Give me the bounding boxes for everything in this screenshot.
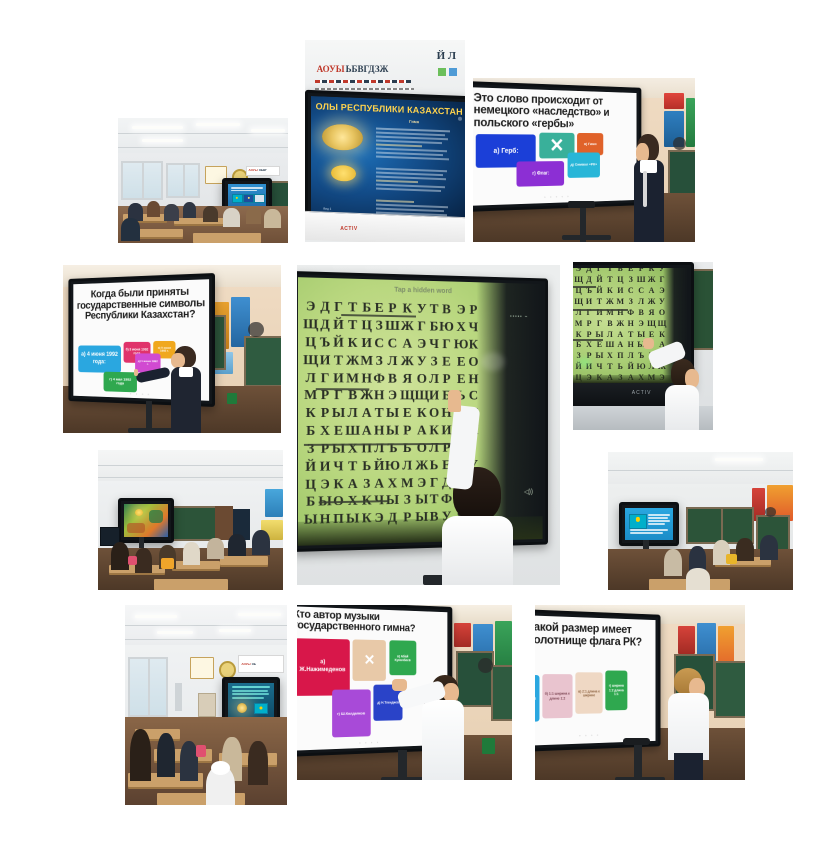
word-search-cell[interactable]: Ь — [429, 458, 439, 475]
quiz-answer-a[interactable]: а) 1:2 — [535, 675, 540, 722]
quiz-question: Когда были приняты государственные симво… — [76, 287, 206, 323]
pupil-pointing — [161, 346, 205, 433]
word-search-cell[interactable]: Ж — [605, 296, 615, 307]
word-search-cell[interactable]: Л — [400, 458, 415, 476]
panel-brand-label: ACTIV — [340, 226, 358, 232]
interactive-panel — [619, 502, 679, 547]
word-search-cell[interactable]: Е — [400, 406, 415, 423]
word-search-cell[interactable]: Р — [584, 318, 594, 329]
word-search-cell[interactable]: Р — [318, 406, 331, 424]
word-search-cell[interactable]: Й — [332, 318, 345, 336]
quiz-slide: Какой размер имеет полотнище флага РК? а… — [535, 615, 656, 745]
cross-icon: ✕ — [364, 653, 375, 667]
word-search-cell[interactable]: Щ — [303, 352, 318, 370]
word-search-cell[interactable]: Т — [605, 274, 615, 285]
word-search-cell[interactable]: Я — [646, 307, 656, 318]
word-search-cell[interactable]: К — [429, 423, 439, 440]
word-search-cell[interactable]: П — [615, 350, 625, 361]
word-search-cell[interactable]: О — [414, 371, 428, 388]
word-search-cell[interactable]: Е — [454, 372, 469, 389]
word-search-cell[interactable]: З — [400, 493, 415, 511]
word-search-cell[interactable]: Э — [318, 476, 331, 494]
panel-glow — [578, 358, 591, 367]
quiz-answer-e[interactable]: д) Символ «РК» — [568, 153, 600, 178]
word-search-cell[interactable]: Э — [414, 475, 428, 493]
photo-quiz-flag-size-boy: Какой размер имеет полотнище флага РК? а… — [535, 605, 745, 780]
word-search-cell[interactable]: Б — [429, 319, 439, 336]
found-word-kazah — [573, 339, 603, 341]
word-search-cell[interactable]: Ю — [439, 320, 454, 338]
word-search-cell[interactable]: Т — [626, 329, 636, 340]
word-search-cell[interactable]: Л — [636, 296, 646, 307]
word-search-cell[interactable]: Э — [303, 299, 318, 317]
word-search-cell[interactable]: У — [414, 354, 428, 371]
word-search-cell[interactable]: Р — [318, 388, 331, 406]
quiz-slide: Это слово происходит от немецкого «насле… — [473, 87, 637, 205]
word-search-cell[interactable]: Й — [594, 274, 604, 285]
found-word-krylatye-koni — [573, 309, 628, 311]
word-search-cell[interactable]: Ж — [414, 458, 428, 475]
word-search-cell[interactable]: Л — [605, 329, 615, 340]
word-search-cell[interactable]: А — [414, 423, 428, 440]
word-search-cell[interactable]: Ц — [303, 477, 318, 495]
word-search-cell[interactable]: И — [584, 296, 594, 307]
word-search-cell[interactable]: И — [615, 285, 625, 296]
word-search-cell[interactable]: Р — [584, 329, 594, 340]
word-search-cell[interactable]: З — [626, 274, 636, 285]
word-search-cell[interactable]: Ш — [636, 274, 646, 285]
word-search-cell[interactable]: Щ — [303, 317, 318, 335]
word-search-cell[interactable]: У — [414, 302, 428, 320]
word-search-cell[interactable]: В — [385, 371, 400, 389]
word-search-cell[interactable]: Л — [626, 350, 636, 361]
quiz-answer-a[interactable]: а) 4 июня 1992 года: — [78, 346, 121, 374]
word-search-cell[interactable]: Н — [626, 318, 636, 329]
photo-collage: АОУЫЭБВГ — [0, 0, 834, 846]
word-search-cell[interactable]: Ъ — [636, 350, 646, 361]
word-search-cell[interactable]: А — [373, 476, 385, 494]
word-search-cell[interactable]: Е — [454, 354, 469, 371]
word-search-cell[interactable]: З — [373, 353, 385, 371]
alphabet-strip-icon: АОУЫЭБВГ — [246, 166, 280, 176]
word-search-cell[interactable]: Г — [332, 388, 345, 406]
word-search-cell[interactable]: С — [373, 336, 385, 354]
word-search-cell[interactable]: Ю — [385, 458, 400, 476]
quiz-answer-b[interactable]: ✕ — [353, 639, 386, 681]
pupil-pointing — [663, 359, 702, 430]
word-search-cell[interactable]: Р — [400, 423, 415, 440]
word-search-cell[interactable]: Т — [345, 318, 360, 336]
word-search-cell[interactable]: Ф — [373, 371, 385, 389]
word-search-cell[interactable]: Ч — [594, 361, 604, 372]
word-search-cell[interactable]: Ш — [605, 339, 615, 350]
word-search-cell[interactable]: Н — [626, 339, 636, 350]
word-search-cell[interactable]: В — [605, 318, 615, 329]
word-search-cell[interactable]: Ь — [360, 458, 373, 476]
photo-classroom-flag-slide — [608, 452, 793, 590]
word-search-cell[interactable]: Б — [303, 494, 318, 512]
word-search-cell[interactable]: Ж — [646, 274, 656, 285]
word-search-cell[interactable]: Щ — [646, 318, 656, 329]
word-search-cell[interactable]: Ж — [400, 354, 415, 372]
state-emblem-icon — [237, 703, 247, 713]
panel-brand-label: ACTIV — [632, 390, 652, 396]
word-search-cell[interactable]: Й — [626, 361, 636, 372]
word-search-cell[interactable]: Ы — [385, 406, 400, 423]
quiz-question: Кто автор музыки государственного гимна? — [297, 609, 444, 636]
word-search-cell[interactable]: Т — [605, 361, 615, 372]
word-search-cell[interactable]: Ж — [345, 353, 360, 371]
anthem-slide-title: ОЛЫ РЕСПУБЛИКИ КАЗАХСТАН — [316, 101, 463, 117]
photo-classroom-wide-pupils-at-desks: АОУЫЭБВГ — [118, 118, 288, 243]
photo-word-search-boy-side-view: ЭДГТБЕРКУЩДЙТЦЗШЖГЦЪЙКИССАЭЩИТЖМЗЛЖУЛГИМ… — [573, 262, 713, 430]
alphabet-strip-icon: АОУЫ ЬБВГДЗЖ — [315, 58, 414, 80]
word-search-cell[interactable]: М — [360, 353, 373, 371]
corner-letters-icon: Й Л — [435, 46, 464, 66]
word-search-cell[interactable]: И — [332, 370, 345, 388]
word-search-cell[interactable]: Й — [373, 458, 385, 476]
word-search-cell[interactable]: Э — [636, 318, 646, 329]
quiz-answer-d[interactable]: г) Флаг: — [517, 161, 565, 187]
word-search-cell[interactable]: Э — [454, 303, 469, 320]
anthem-slide: ОЛЫ РЕСПУБЛИКИ КАЗАХСТАН Гимн — [311, 96, 465, 223]
photo-anthem-slide-on-panel: АОУЫ ЬБВГДЗЖ Й Л ОЛЫ РЕСПУБЛИКИ КАЗАХСТА… — [305, 40, 465, 242]
word-search-cell[interactable]: И — [318, 353, 331, 371]
word-search-cell[interactable]: Г — [429, 475, 439, 492]
quiz-answer-c[interactable]: в) Абай Кунанбаев — [389, 640, 416, 676]
pupil-standing — [665, 668, 711, 780]
word-search-cell[interactable]: М — [345, 371, 360, 389]
word-search-cell[interactable]: Ч — [332, 459, 345, 477]
word-search-cell[interactable]: М — [615, 296, 625, 307]
pupil-standing — [631, 134, 669, 242]
word-search-cell[interactable]: Х — [605, 350, 615, 361]
word-search-cell[interactable]: Т — [332, 353, 345, 371]
word-search-cell[interactable]: Г — [318, 370, 331, 388]
word-search-cell[interactable]: З — [360, 476, 373, 494]
word-search-cell[interactable]: С — [636, 285, 646, 296]
flag-sun-icon — [331, 164, 356, 181]
photo-classroom-tall-left: АОУЫЭБ — [125, 605, 287, 805]
quiz-answer-c[interactable]: в) 2:1 длина к ширине — [575, 672, 603, 714]
word-search-cell[interactable]: Л — [385, 354, 400, 372]
word-search-cell[interactable]: М — [303, 388, 318, 406]
panel-glow — [481, 353, 505, 371]
word-search-cell[interactable]: Ъ — [318, 335, 331, 353]
word-search-cell[interactable]: В — [439, 302, 454, 320]
quiz-answer-d[interactable]: г) ширина 1:2 длина 1:1 — [606, 670, 628, 710]
word-search-cell[interactable]: Э — [385, 388, 400, 405]
panel-status-icons: ▪▪▪▪▪ ⌁ — [510, 314, 528, 320]
word-search-cell[interactable]: Ч — [429, 337, 439, 354]
word-search-cell[interactable]: Ш — [345, 423, 360, 441]
word-search-cell[interactable]: А — [646, 285, 656, 296]
word-search-cell[interactable]: Б — [303, 423, 318, 441]
word-search-cell[interactable]: Н — [373, 388, 385, 406]
cross-icon: ✕ — [550, 137, 565, 156]
word-search-cell[interactable]: И — [318, 459, 331, 477]
word-search-cell[interactable]: Ы — [414, 492, 428, 510]
word-search-cell[interactable]: Л — [429, 371, 439, 388]
panel-volume-icon: ◁)) — [524, 489, 533, 497]
word-search-cell[interactable]: Д — [318, 317, 331, 335]
word-search-cell[interactable]: А — [360, 406, 373, 424]
word-search-cell[interactable]: Щ — [573, 296, 583, 307]
interactive-panel: Это слово происходит от немецкого «насле… — [473, 81, 642, 212]
word-search-cell[interactable]: Ц — [615, 274, 625, 285]
word-search-cell[interactable]: Т — [594, 296, 604, 307]
word-search-cell[interactable]: Г — [414, 319, 428, 337]
quiz-answer-a[interactable]: а) Ж.Нажимеденов — [297, 638, 350, 695]
interactive-panel — [118, 498, 174, 543]
word-search-cell[interactable]: Д — [584, 274, 594, 285]
word-search-cell[interactable]: Ж — [615, 318, 625, 329]
word-search-cell[interactable]: С — [626, 285, 636, 296]
word-search-cell[interactable]: Т — [345, 459, 360, 477]
word-search-cell[interactable]: Г — [594, 318, 604, 329]
word-search-cell[interactable]: Н — [360, 371, 373, 389]
word-search-cell[interactable]: Х — [385, 476, 400, 494]
quiz-answer-d[interactable]: г) Ш.Калдаяков — [332, 689, 370, 737]
quiz-answer-e[interactable]: г) 4 мая 1992 года — [104, 372, 137, 392]
word-search-cell[interactable]: Щ — [573, 274, 583, 285]
word-search-cell[interactable]: В — [345, 388, 360, 406]
word-search-cell[interactable]: Л — [345, 406, 360, 424]
word-search-cell[interactable]: Й — [303, 459, 318, 477]
word-search-cell[interactable]: Э — [414, 337, 428, 355]
word-search-cell[interactable]: А — [345, 476, 360, 494]
word-search-cell[interactable]: А — [615, 339, 625, 350]
word-search-cell[interactable]: Х — [454, 320, 469, 337]
word-search-cell[interactable]: М — [400, 475, 415, 493]
word-search-cell[interactable]: К — [573, 329, 583, 340]
word-search-cell[interactable]: М — [573, 318, 583, 329]
word-search-cell[interactable]: Й — [332, 335, 345, 353]
alphabet-strip-icon: АОУЫЭБ — [238, 655, 283, 673]
word-search-cell[interactable]: Ц — [360, 318, 373, 336]
word-search-cell[interactable]: К — [605, 285, 615, 296]
photo-quiz-anthem-author-girl: Кто автор музыки государственного гимна?… — [297, 605, 512, 780]
word-search-cell[interactable]: Щ — [400, 388, 415, 405]
flag-slide — [625, 508, 673, 541]
quiz-question: Это слово происходит от немецкого «насле… — [474, 91, 634, 130]
word-search-cell[interactable]: Ж — [646, 296, 656, 307]
word-search-cell[interactable]: К — [345, 335, 360, 353]
state-emblem-icon — [322, 123, 364, 151]
word-search-cell[interactable]: Г — [439, 337, 454, 354]
word-search-cell[interactable]: Ш — [385, 319, 400, 337]
word-search-cell[interactable]: К — [414, 406, 428, 423]
word-search-cell[interactable]: Я — [400, 371, 415, 388]
photo-classroom-colorful-slide — [98, 450, 283, 590]
word-search-cell[interactable]: И — [429, 389, 439, 406]
word-search-cell[interactable]: Т — [429, 302, 439, 319]
quiz-answer-b[interactable]: б) 1:1 ширина к длине 1:2 — [542, 673, 572, 718]
flag-slide — [228, 184, 266, 208]
flag-of-kazakhstan-icon — [254, 703, 268, 714]
photo-quiz-gerb-boy-standing: Это слово происходит от немецкого «насле… — [473, 78, 695, 242]
word-search-cell[interactable]: Ю — [636, 361, 646, 372]
flag-of-kazakhstan-icon — [629, 514, 647, 529]
photo-word-search-boy-back-view: Tap a hidden word ЭДГТБЕРКУТВЭРЩДЙТЦЗШЖГ… — [297, 265, 560, 585]
quiz-question: Какой размер имеет полотнище флага РК? — [535, 620, 653, 648]
word-search-cell[interactable]: З — [429, 354, 439, 371]
word-search-cell[interactable]: Ж — [360, 388, 373, 406]
interactive-panel: Какой размер имеет полотнище флага РК? а… — [535, 609, 661, 752]
word-search-cell[interactable]: Д — [318, 300, 331, 318]
word-search-cell[interactable]: Р — [439, 371, 454, 388]
photo-quiz-date-boy-pointing: Когда были приняты государственные симво… — [63, 265, 281, 433]
word-search-cell[interactable]: Н — [373, 423, 385, 441]
word-search-cell[interactable]: Х — [318, 423, 331, 441]
word-search-cell[interactable]: К — [303, 406, 318, 424]
word-search-cell[interactable]: Е — [439, 354, 454, 371]
word-search-cell[interactable]: А — [360, 423, 373, 441]
word-search-cell[interactable]: О — [429, 406, 439, 423]
found-word-gimn — [573, 286, 596, 288]
word-search-cell[interactable]: Ю — [454, 337, 469, 354]
word-search-cell[interactable]: А — [400, 336, 415, 354]
word-search-cell[interactable]: З — [626, 296, 636, 307]
word-search-cell[interactable]: Ы — [594, 350, 604, 361]
word-search-cell[interactable]: В — [636, 307, 646, 318]
word-search-cell[interactable]: Щ — [414, 389, 428, 406]
word-search-cell[interactable]: Ы — [385, 423, 400, 441]
word-search-cell[interactable]: Ж — [400, 319, 415, 337]
word-search-cell[interactable]: Т — [429, 492, 439, 509]
word-search-cell[interactable]: К — [332, 476, 345, 494]
word-search-cell[interactable]: И — [360, 336, 373, 354]
word-search-cell[interactable]: Е — [332, 423, 345, 441]
word-search-cell[interactable]: З — [373, 318, 385, 336]
word-search-cell[interactable]: Ы — [332, 406, 345, 424]
word-search-cell[interactable]: Т — [373, 406, 385, 423]
word-search-cell[interactable]: Л — [303, 370, 318, 388]
word-search-cell[interactable]: С — [385, 336, 400, 354]
word-search-cell[interactable]: А — [615, 329, 625, 340]
interactive-panel: ОЛЫ РЕСПУБЛИКИ КАЗАХСТАН Гимн — [305, 89, 465, 229]
word-search-cell[interactable]: Ы — [594, 329, 604, 340]
word-search-cell[interactable]: Ц — [303, 335, 318, 353]
word-search-cell[interactable]: Ь — [615, 361, 625, 372]
anthem-lyrics: Гимн — [376, 117, 453, 222]
